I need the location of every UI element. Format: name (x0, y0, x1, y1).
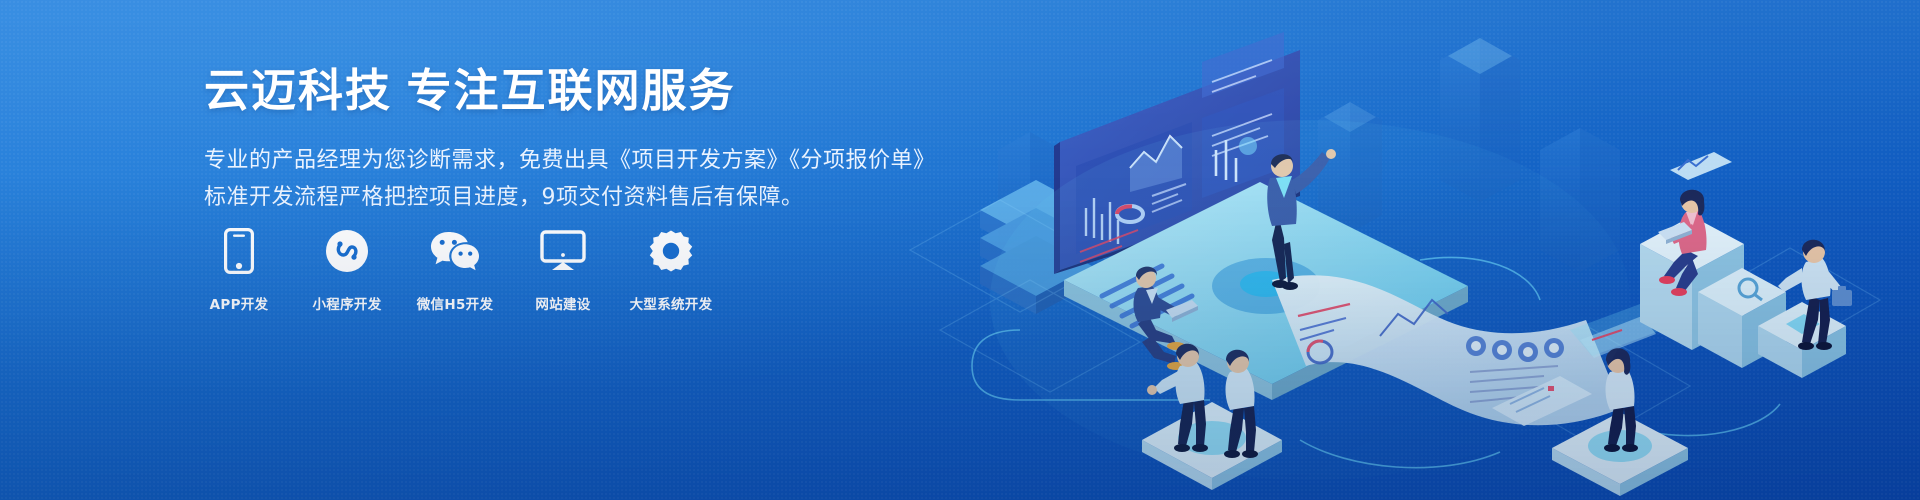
hero-illustration (880, 0, 1920, 500)
hero-banner: 云迈科技 专注互联网服务 专业的产品经理为您诊断需求，免费出具《项目开发方案》《… (0, 0, 1920, 500)
service-item-app[interactable]: APP开发 (200, 228, 278, 313)
service-label-mini-program: 小程序开发 (313, 293, 382, 313)
subtitle-line-2: 标准开发流程严格把控项目进度，9项交付资料售后有保障。 (204, 179, 904, 217)
page-title: 云迈科技 专注互联网服务 (204, 66, 904, 116)
service-label-large-system: 大型系统开发 (630, 293, 713, 313)
service-item-large-system[interactable]: 大型系统开发 (632, 228, 710, 313)
subtitle-line-1: 专业的产品经理为您诊断需求，免费出具《项目开发方案》《分项报价单》 (204, 142, 904, 180)
service-item-mini-program[interactable]: 小程序开发 (308, 228, 386, 313)
monitor-icon (540, 228, 586, 274)
hero-copy-block: 云迈科技 专注互联网服务 专业的产品经理为您诊断需求，免费出具《项目开发方案》《… (204, 66, 904, 217)
service-label-wechat-h5: 微信H5开发 (417, 293, 494, 313)
mobile-phone-icon (224, 228, 254, 274)
gear-icon (649, 228, 693, 274)
service-item-website[interactable]: 网站建设 (524, 228, 602, 313)
service-icon-row: APP开发 小程序开发 (200, 228, 710, 313)
wechat-icon (429, 228, 481, 274)
service-item-wechat-h5[interactable]: 微信H5开发 (416, 228, 494, 313)
service-label-app: APP开发 (210, 293, 269, 313)
mini-program-icon (325, 228, 369, 274)
service-label-website: 网站建设 (535, 293, 590, 313)
